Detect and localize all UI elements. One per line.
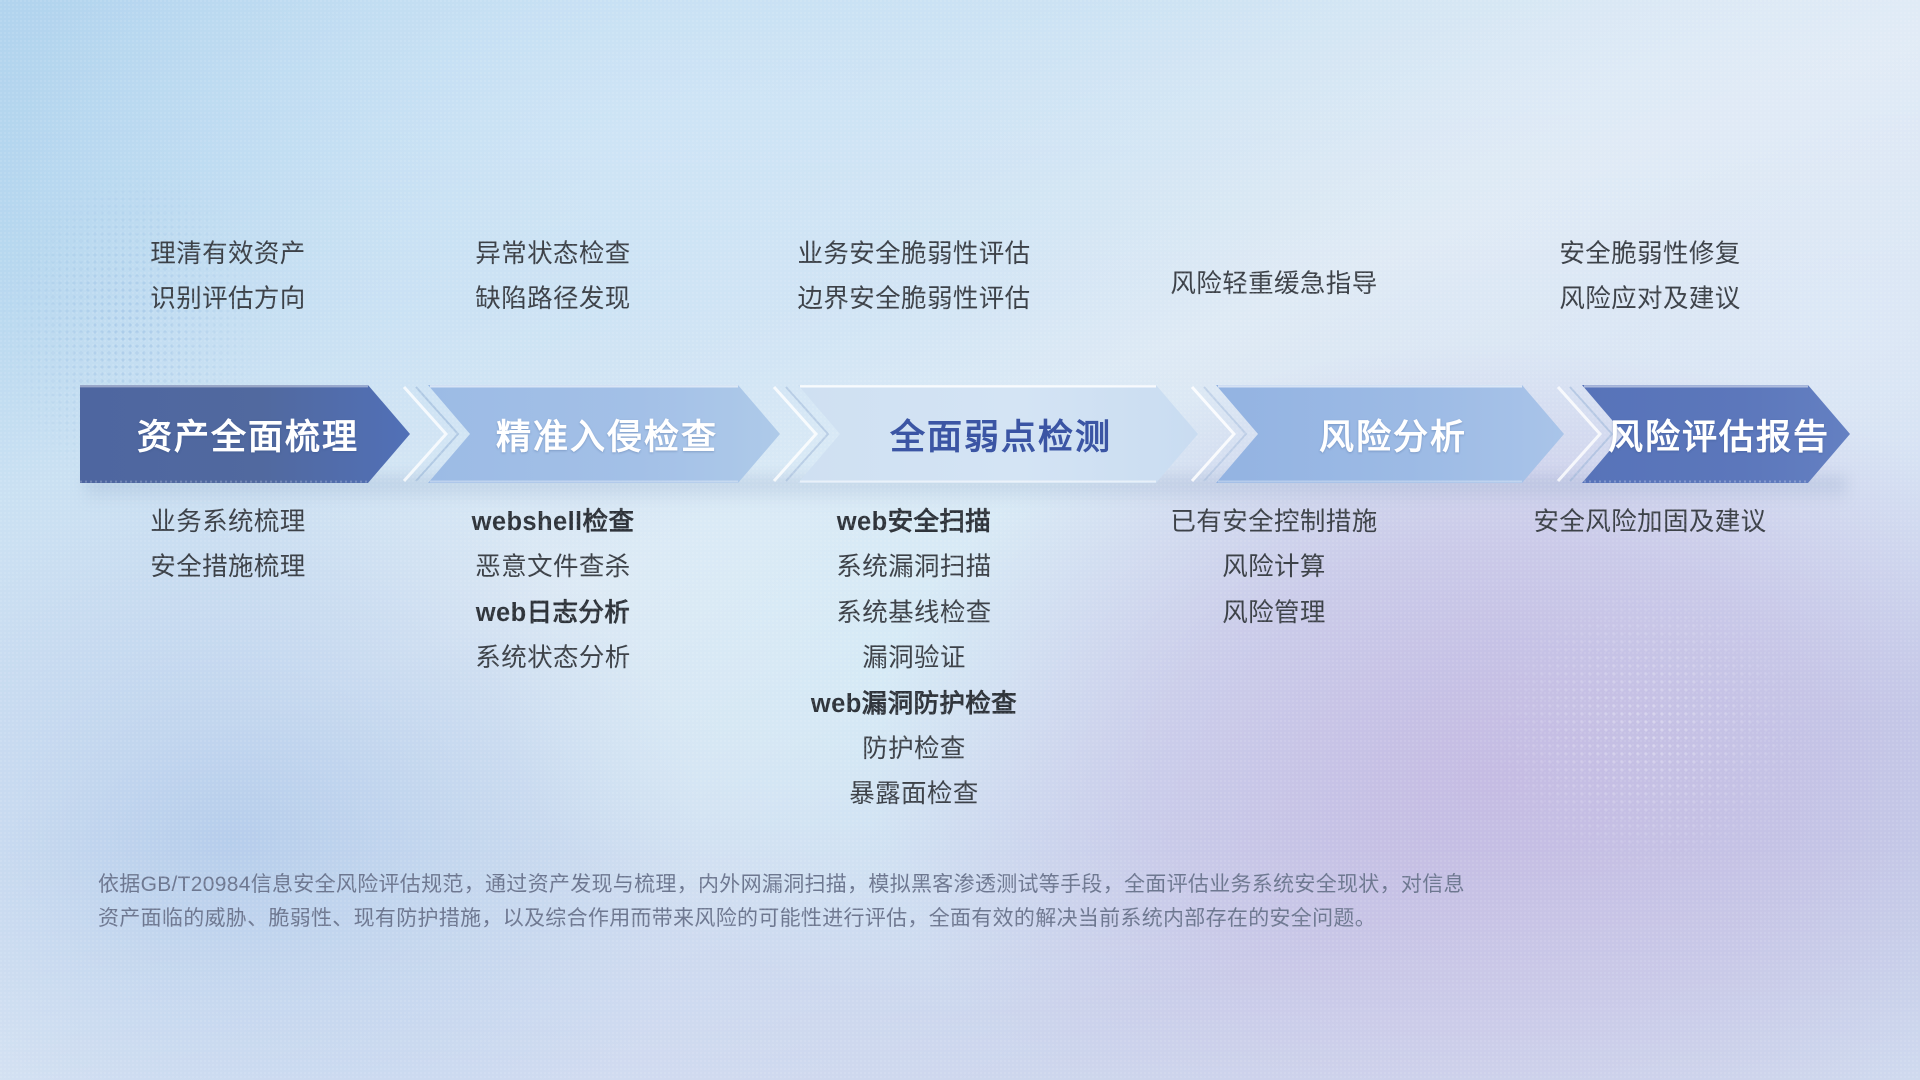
process-step-weakness-detection[interactable]: 全面弱点检测 xyxy=(798,385,1198,483)
bottom-note: 暴露面检查 xyxy=(730,772,1098,817)
top-note: 边界安全脆弱性评估 xyxy=(730,277,1098,322)
top-note: 缺陷路径发现 xyxy=(376,277,730,322)
bottom-note: 恶意文件查杀 xyxy=(376,545,730,590)
top-notes-col-4: 风险轻重缓急指导 xyxy=(1098,232,1450,323)
top-note: 识别评估方向 xyxy=(80,277,376,322)
step-label: 风险评估报告 xyxy=(1602,409,1830,460)
top-notes-col-5: 安全脆弱性修复 风险应对及建议 xyxy=(1450,232,1850,323)
process-step-risk-analysis[interactable]: 风险分析 xyxy=(1216,385,1564,483)
top-note: 业务安全脆弱性评估 xyxy=(730,232,1098,277)
top-notes-col-2: 异常状态检查 缺陷路径发现 xyxy=(376,232,730,323)
process-step-intrusion-check[interactable]: 精准入侵检查 xyxy=(428,385,780,483)
bottom-note: 风险计算 xyxy=(1098,545,1450,590)
process-arrow-band: 资产全面梳理 xyxy=(80,385,1850,483)
bottom-note: 安全措施梳理 xyxy=(80,545,376,590)
bottom-notes-col-5: 安全风险加固及建议 xyxy=(1450,500,1850,818)
bottom-note: web漏洞防护检查 xyxy=(730,682,1098,727)
footnote-line-1: 依据GB/T20984信息安全风险评估规范，通过资产发现与梳理，内外网漏洞扫描，… xyxy=(98,868,1738,902)
bottom-note: 系统状态分析 xyxy=(376,636,730,681)
process-step-asset-inventory[interactable]: 资产全面梳理 xyxy=(80,385,410,483)
footnote-line-2: 资产面临的威胁、脆弱性、现有防护措施，以及综合作用而带来风险的可能性进行评估，全… xyxy=(98,902,1738,936)
step-label: 全面弱点检测 xyxy=(884,409,1112,460)
bottom-note: 业务系统梳理 xyxy=(80,500,376,545)
bottom-notes-row: 业务系统梳理 安全措施梳理 webshell检查 恶意文件查杀 web日志分析 … xyxy=(80,500,1850,818)
step-label: 资产全面梳理 xyxy=(131,409,359,460)
bottom-note: web安全扫描 xyxy=(730,500,1098,545)
bottom-note: 安全风险加固及建议 xyxy=(1450,500,1850,545)
top-notes-col-3: 业务安全脆弱性评估 边界安全脆弱性评估 xyxy=(730,232,1098,323)
top-notes-row: 理清有效资产 识别评估方向 异常状态检查 缺陷路径发现 业务安全脆弱性评估 边界… xyxy=(80,232,1850,323)
slide-canvas: 理清有效资产 识别评估方向 异常状态检查 缺陷路径发现 业务安全脆弱性评估 边界… xyxy=(0,0,1920,1080)
bottom-note: 漏洞验证 xyxy=(730,636,1098,681)
bottom-notes-col-2: webshell检查 恶意文件查杀 web日志分析 系统状态分析 xyxy=(376,500,730,818)
bottom-notes-col-1: 业务系统梳理 安全措施梳理 xyxy=(80,500,376,818)
top-note: 异常状态检查 xyxy=(376,232,730,277)
top-note: 安全脆弱性修复 xyxy=(1450,232,1850,277)
top-note: 风险应对及建议 xyxy=(1450,277,1850,322)
bottom-note: webshell检查 xyxy=(376,500,730,545)
bottom-note: 防护检查 xyxy=(730,727,1098,772)
footnote-paragraph: 依据GB/T20984信息安全风险评估规范，通过资产发现与梳理，内外网漏洞扫描，… xyxy=(98,868,1738,936)
process-step-risk-report[interactable]: 风险评估报告 xyxy=(1582,385,1850,483)
top-notes-col-1: 理清有效资产 识别评估方向 xyxy=(80,232,376,323)
bottom-note: web日志分析 xyxy=(376,591,730,636)
bottom-notes-col-4: 已有安全控制措施 风险计算 风险管理 xyxy=(1098,500,1450,818)
top-note: 理清有效资产 xyxy=(80,232,376,277)
bottom-note: 风险管理 xyxy=(1098,591,1450,636)
bottom-note: 系统基线检查 xyxy=(730,591,1098,636)
bottom-notes-col-3: web安全扫描 系统漏洞扫描 系统基线检查 漏洞验证 web漏洞防护检查 防护检… xyxy=(730,500,1098,818)
step-label: 精准入侵检查 xyxy=(490,409,718,460)
top-note: 风险轻重缓急指导 xyxy=(1098,262,1450,307)
bottom-note: 已有安全控制措施 xyxy=(1098,500,1450,545)
bottom-note: 系统漏洞扫描 xyxy=(730,545,1098,590)
step-label: 风险分析 xyxy=(1313,409,1467,460)
